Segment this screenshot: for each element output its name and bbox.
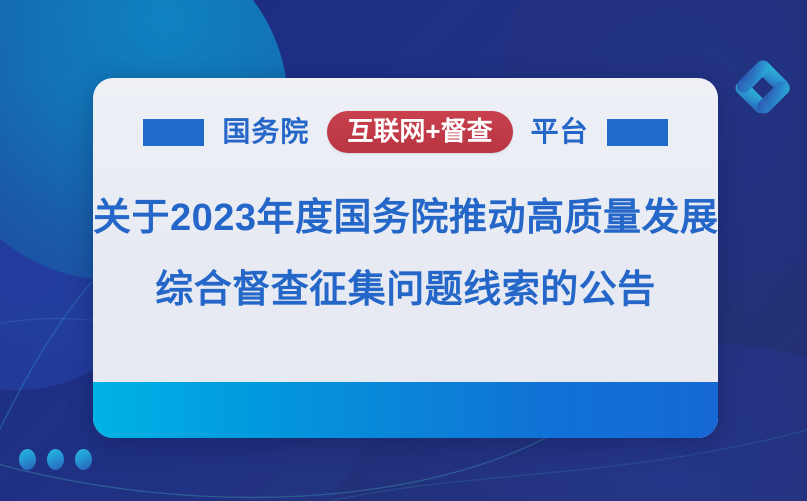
diamond-logo-icon — [734, 58, 790, 116]
dot-1 — [19, 449, 36, 470]
platform-header: 国务院 互联网+督查 平台 — [93, 111, 718, 153]
decorative-dots — [19, 449, 92, 470]
poster-canvas: 国务院 互联网+督查 平台 关于2023年度国务院推动高质量发展 综合督查征集问… — [0, 0, 807, 501]
header-word-platform: 平台 — [531, 118, 589, 146]
header-block-left — [143, 119, 204, 146]
title-line-1: 关于2023年度国务院推动高质量发展 — [93, 182, 718, 254]
header-badge-internet-plus-supervision: 互联网+督查 — [327, 111, 512, 153]
card-body: 国务院 互联网+督查 平台 关于2023年度国务院推动高质量发展 综合督查征集问… — [93, 78, 718, 382]
header-block-right — [607, 119, 668, 146]
header-word-state-council: 国务院 — [222, 118, 309, 146]
title-line-2: 综合督查征集问题线索的公告 — [93, 254, 718, 326]
dot-3 — [75, 449, 92, 470]
announcement-card: 国务院 互联网+督查 平台 关于2023年度国务院推动高质量发展 综合督查征集问… — [93, 78, 718, 438]
card-footer-gradient-bar — [93, 382, 718, 438]
announcement-title: 关于2023年度国务院推动高质量发展 综合督查征集问题线索的公告 — [93, 182, 718, 326]
dot-2 — [47, 449, 64, 470]
